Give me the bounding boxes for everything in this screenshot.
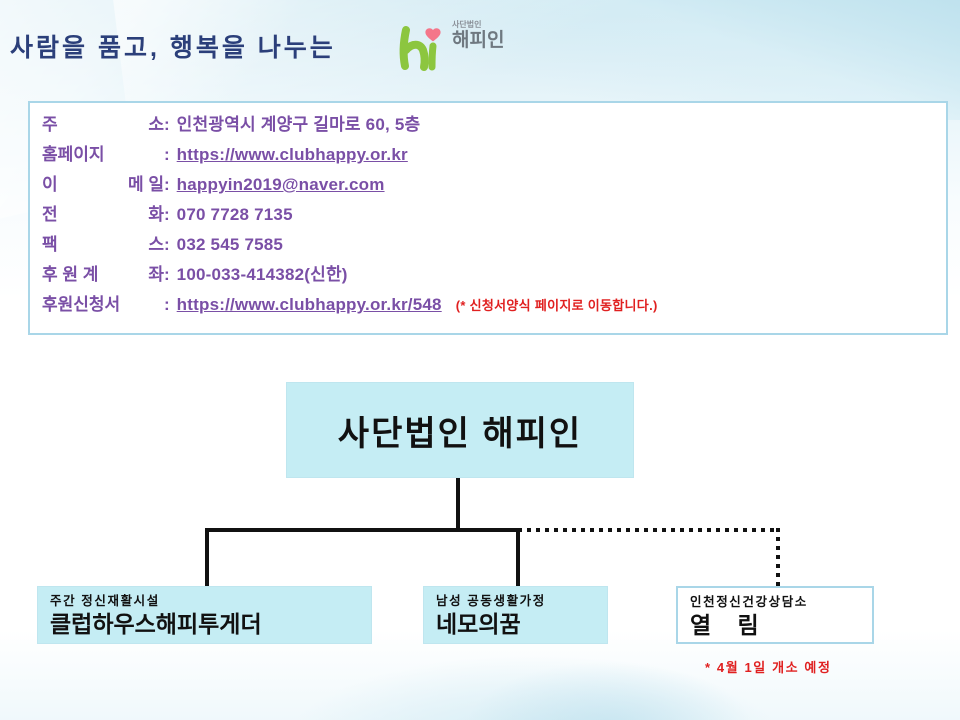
contact-info-label-part: 좌	[148, 260, 164, 285]
contact-info-link[interactable]: happyin2019@naver.com	[177, 175, 385, 195]
contact-info-label-part: 홈페이지	[42, 140, 105, 165]
org-node-name: 네모의꿈	[436, 610, 595, 638]
contact-info-label-part: 메 일	[128, 170, 164, 195]
contact-info-panel: 주소:인천광역시 계양구 길마로 60, 5층홈페이지:https://www.…	[28, 101, 948, 335]
contact-info-label-part: 주	[42, 110, 58, 135]
contact-info-label: 홈페이지	[42, 140, 164, 165]
logo-maintext: 해피인	[452, 30, 526, 52]
contact-info-colon: :	[164, 295, 177, 315]
contact-info-row: 이메 일:happyin2019@naver.com	[42, 170, 658, 200]
contact-info-colon: :	[164, 265, 177, 285]
contact-info-label-part: 전	[42, 200, 58, 225]
org-node-name: 클럽하우스해피투게더	[50, 610, 359, 638]
org-node-subtitle: 인천정신건강상담소	[690, 595, 860, 609]
org-node-name: 열 림	[690, 611, 860, 639]
hi-logo-mark-icon	[396, 22, 448, 74]
contact-info-link[interactable]: https://www.clubhappy.or.kr	[177, 145, 408, 165]
connector-root-vertical	[456, 478, 460, 530]
contact-info-label-part: 화	[148, 200, 164, 225]
contact-info-row: 팩스:032 545 7585	[42, 230, 658, 260]
org-node-yeollim: 인천정신건강상담소 열 림	[676, 586, 874, 644]
contact-info-value: 100-033-414382(신한)	[177, 260, 348, 285]
contact-info-label-part: 소	[148, 110, 164, 135]
contact-info-colon: :	[164, 235, 177, 255]
contact-info-row: 후원신청서:https://www.clubhappy.or.kr/548(* …	[42, 290, 658, 320]
organization-logo: 사단법인 해피인	[396, 16, 526, 78]
contact-info-value: 인천광역시 계양구 길마로 60, 5층	[177, 110, 421, 135]
contact-info-value: 032 545 7585	[177, 235, 283, 255]
logo-wordmark: 사단법인 해피인	[452, 20, 526, 52]
org-chart-footnote: * 4월 1일 개소 예정	[705, 657, 832, 676]
contact-info-label: 팩스	[42, 230, 164, 255]
contact-info-label-part: 스	[148, 230, 164, 255]
contact-info-colon: :	[164, 145, 177, 165]
contact-info-row: 후 원 계좌:100-033-414382(신한)	[42, 260, 658, 290]
org-node-subtitle: 남성 공동생활가정	[436, 594, 595, 608]
header: 사람을 품고, 행복을 나누는 사단법인 해피인	[0, 0, 960, 96]
contact-info-colon: :	[164, 175, 177, 195]
org-root-node: 사단법인 해피인	[286, 382, 634, 478]
contact-info-label-part: 팩	[42, 230, 58, 255]
contact-info-note: (* 신청서양식 페이지로 이동합니다.)	[456, 295, 658, 314]
contact-info-label-part: 후원신청서	[42, 290, 120, 315]
slogan-text: 사람을 품고, 행복을 나누는	[10, 28, 336, 64]
contact-info-row: 홈페이지:https://www.clubhappy.or.kr	[42, 140, 658, 170]
slide-canvas: 사람을 품고, 행복을 나누는 사단법인 해피인 주소:인천광역시 계양구 길마…	[0, 0, 960, 720]
connector-branch-left	[205, 528, 209, 588]
contact-info-label-part: 이	[42, 170, 58, 195]
contact-info-label: 전화	[42, 200, 164, 225]
contact-info-row: 전화:070 7728 7135	[42, 200, 658, 230]
connector-branch-middle	[516, 528, 520, 588]
contact-info-value: 070 7728 7135	[177, 205, 293, 225]
connector-dotted-branch-right	[776, 528, 780, 588]
contact-info-label-part: 후 원 계	[42, 260, 98, 285]
contact-info-label: 후 원 계좌	[42, 260, 164, 285]
contact-info-label: 주소	[42, 110, 164, 135]
org-node-nemo: 남성 공동생활가정 네모의꿈	[423, 586, 608, 644]
connector-dotted-horizontal	[518, 528, 780, 532]
contact-info-label: 이메 일	[42, 170, 164, 195]
contact-info-list: 주소:인천광역시 계양구 길마로 60, 5층홈페이지:https://www.…	[42, 110, 658, 320]
contact-info-label: 후원신청서	[42, 290, 164, 315]
org-node-clubhouse: 주간 정신재활시설 클럽하우스해피투게더	[37, 586, 372, 644]
contact-info-row: 주소:인천광역시 계양구 길마로 60, 5층	[42, 110, 658, 140]
contact-info-colon: :	[164, 205, 177, 225]
org-root-title: 사단법인 해피인	[338, 406, 582, 455]
connector-horizontal-bar	[205, 528, 520, 532]
org-node-subtitle: 주간 정신재활시설	[50, 594, 359, 608]
logo-subtext: 사단법인	[452, 20, 526, 30]
contact-info-colon: :	[164, 115, 177, 135]
contact-info-link[interactable]: https://www.clubhappy.or.kr/548	[177, 295, 442, 315]
